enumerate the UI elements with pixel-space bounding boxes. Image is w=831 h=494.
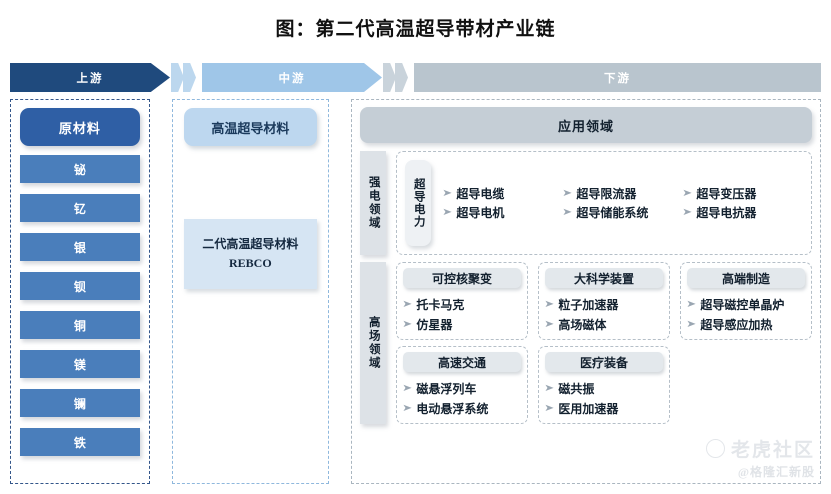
band-arrow-midstream-to-downstream xyxy=(382,63,414,92)
upstream-item-magnesium: 镁 xyxy=(20,350,140,378)
list-item: ➤超导磁控单晶炉 xyxy=(687,296,805,313)
superconducting-power-pill-text: 超导电力 xyxy=(412,178,424,228)
list-item: ➤超导变压器 xyxy=(683,185,803,202)
list-item-label: 超导感应加热 xyxy=(700,316,772,333)
group-card-header: 可控核聚变 xyxy=(403,268,521,288)
list-item: ➤超导电机 xyxy=(443,204,563,221)
upstream-item-barium: 钡 xyxy=(20,272,140,300)
chevron-arrow-icon xyxy=(183,63,196,92)
strong-electric-item-grid: ➤超导电缆 ➤超导限流器 ➤超导变压器 ➤超导电机 ➤超导储能系统 ➤超导电抗器 xyxy=(431,185,803,221)
high-field-group-row-2: 高速交通 ➤磁悬浮列车 ➤电动悬浮系统 医疗装备 ➤磁共振 ➤医用加速器 xyxy=(396,346,812,424)
list-item-label: 电动悬浮系统 xyxy=(416,400,488,417)
list-item-label: 超导电机 xyxy=(456,204,504,221)
upstream-item-bismuth: 铋 xyxy=(20,155,140,183)
chevron-right-icon: ➤ xyxy=(544,383,554,394)
upstream-item-lanthanum: 镧 xyxy=(20,389,140,417)
high-field-groups: 可控核聚变 ➤托卡马克 ➤仿星器 大科学装置 ➤粒子加速器 ➤高场磁体 高端制造… xyxy=(396,262,812,424)
chevron-right-icon: ➤ xyxy=(562,207,572,218)
chevron-right-icon: ➤ xyxy=(544,403,554,414)
midstream-material-box: 二代高温超导材料 REBCO xyxy=(184,219,317,289)
band-segment-downstream-label: 下游 xyxy=(604,70,631,86)
group-card-header: 高速交通 xyxy=(403,352,521,372)
strong-electric-panel: 超导电力 ➤超导电缆 ➤超导限流器 ➤超导变压器 ➤超导电机 ➤超导储能系统 ➤… xyxy=(396,151,812,255)
high-field-group-row-1: 可控核聚变 ➤托卡马克 ➤仿星器 大科学装置 ➤粒子加速器 ➤高场磁体 高端制造… xyxy=(396,262,812,340)
chevron-right-icon: ➤ xyxy=(686,299,696,310)
chevron-right-icon: ➤ xyxy=(544,319,554,330)
high-field-side-label-text: 高场领域 xyxy=(367,316,379,370)
upstream-header: 原材料 xyxy=(20,108,140,146)
high-field-row: 高场领域 可控核聚变 ➤托卡马克 ➤仿星器 大科学装置 ➤粒子加速器 ➤高场磁体 xyxy=(360,262,812,424)
band-segment-upstream-label: 上游 xyxy=(77,70,104,86)
list-item: ➤粒子加速器 xyxy=(545,296,663,313)
page-title: 图：第二代高温超导带材产业链 xyxy=(0,0,831,41)
upstream-item-yttrium: 钇 xyxy=(20,194,140,222)
list-item-label: 超导磁控单晶炉 xyxy=(700,296,784,313)
downstream-header: 应用领域 xyxy=(360,107,812,143)
midstream-header: 高温超导材料 xyxy=(184,108,317,146)
chain-columns: 原材料 铋 钇 银 钡 铜 镁 镧 铁 高温超导材料 二代高温超导材料 REBC… xyxy=(10,99,821,484)
chevron-right-icon: ➤ xyxy=(402,383,412,394)
group-card-header: 医疗装备 xyxy=(545,352,663,372)
list-item-label: 超导储能系统 xyxy=(576,204,648,221)
band-segment-midstream: 中游 xyxy=(202,63,382,92)
high-field-side-label: 高场领域 xyxy=(360,262,386,424)
list-item: ➤电动悬浮系统 xyxy=(403,400,521,417)
chevron-right-icon: ➤ xyxy=(442,207,452,218)
group-card-high-speed-transport: 高速交通 ➤磁悬浮列车 ➤电动悬浮系统 xyxy=(396,346,528,424)
list-item: ➤高场磁体 xyxy=(545,316,663,333)
list-item-label: 托卡马克 xyxy=(416,296,464,313)
band-segment-downstream: 下游 xyxy=(414,63,821,92)
chevron-arrow-icon xyxy=(383,63,396,92)
upstream-item-silver: 银 xyxy=(20,233,140,261)
list-item-label: 磁悬浮列车 xyxy=(416,380,476,397)
chevron-arrow-icon xyxy=(395,63,408,92)
list-item: ➤仿星器 xyxy=(403,316,521,333)
group-card-header: 大科学装置 xyxy=(545,268,663,288)
list-item: ➤磁共振 xyxy=(545,380,663,397)
chevron-arrow-icon xyxy=(171,63,184,92)
list-item: ➤超导储能系统 xyxy=(563,204,683,221)
list-item-label: 仿星器 xyxy=(416,316,452,333)
list-item: ➤超导感应加热 xyxy=(687,316,805,333)
value-chain-band: 上游 中游 下游 xyxy=(10,63,821,92)
strong-electric-row: 强电领域 超导电力 ➤超导电缆 ➤超导限流器 ➤超导变压器 ➤超导电机 ➤超导储… xyxy=(360,151,812,255)
list-item: ➤托卡马克 xyxy=(403,296,521,313)
chevron-right-icon: ➤ xyxy=(402,319,412,330)
upstream-item-copper: 铜 xyxy=(20,311,140,339)
group-card-medical-equipment: 医疗装备 ➤磁共振 ➤医用加速器 xyxy=(538,346,670,424)
chevron-right-icon: ➤ xyxy=(682,188,692,199)
chevron-right-icon: ➤ xyxy=(402,403,412,414)
upstream-column: 原材料 铋 钇 银 钡 铜 镁 镧 铁 xyxy=(10,99,150,484)
downstream-column: 应用领域 强电领域 超导电力 ➤超导电缆 ➤超导限流器 ➤超导变压器 ➤超导电机… xyxy=(351,99,821,484)
chevron-right-icon: ➤ xyxy=(402,299,412,310)
chevron-right-icon: ➤ xyxy=(682,207,692,218)
strong-electric-side-label: 强电领域 xyxy=(360,151,386,255)
list-item-label: 高场磁体 xyxy=(558,316,606,333)
group-card-header: 高端制造 xyxy=(687,268,805,288)
band-segment-upstream: 上游 xyxy=(10,63,170,92)
superconducting-power-pill: 超导电力 xyxy=(405,160,431,246)
group-card-advanced-manufacturing: 高端制造 ➤超导磁控单晶炉 ➤超导感应加热 xyxy=(680,262,812,340)
chevron-right-icon: ➤ xyxy=(442,188,452,199)
list-item: ➤磁悬浮列车 xyxy=(403,380,521,397)
midstream-material-name: 二代高温超导材料 xyxy=(202,235,298,254)
list-item-label: 超导变压器 xyxy=(696,185,756,202)
strong-electric-side-label-text: 强电领域 xyxy=(367,176,379,230)
list-item-label: 超导电缆 xyxy=(456,185,504,202)
list-item: ➤超导电缆 xyxy=(443,185,563,202)
midstream-material-code: REBCO xyxy=(229,254,272,273)
chevron-right-icon: ➤ xyxy=(686,319,696,330)
midstream-column: 高温超导材料 二代高温超导材料 REBCO xyxy=(172,99,329,484)
list-item: ➤医用加速器 xyxy=(545,400,663,417)
list-item-label: 医用加速器 xyxy=(558,400,618,417)
group-card-fusion: 可控核聚变 ➤托卡马克 ➤仿星器 xyxy=(396,262,528,340)
list-item-label: 磁共振 xyxy=(558,380,594,397)
band-segment-midstream-label: 中游 xyxy=(279,70,306,86)
list-item: ➤超导电抗器 xyxy=(683,204,803,221)
group-card-big-science: 大科学装置 ➤粒子加速器 ➤高场磁体 xyxy=(538,262,670,340)
chevron-right-icon: ➤ xyxy=(562,188,572,199)
list-item-label: 超导电抗器 xyxy=(696,204,756,221)
chevron-right-icon: ➤ xyxy=(544,299,554,310)
list-item-label: 超导限流器 xyxy=(576,185,636,202)
upstream-item-iron: 铁 xyxy=(20,428,140,456)
list-item: ➤超导限流器 xyxy=(563,185,683,202)
band-arrow-upstream-to-midstream xyxy=(170,63,202,92)
list-item-label: 粒子加速器 xyxy=(558,296,618,313)
